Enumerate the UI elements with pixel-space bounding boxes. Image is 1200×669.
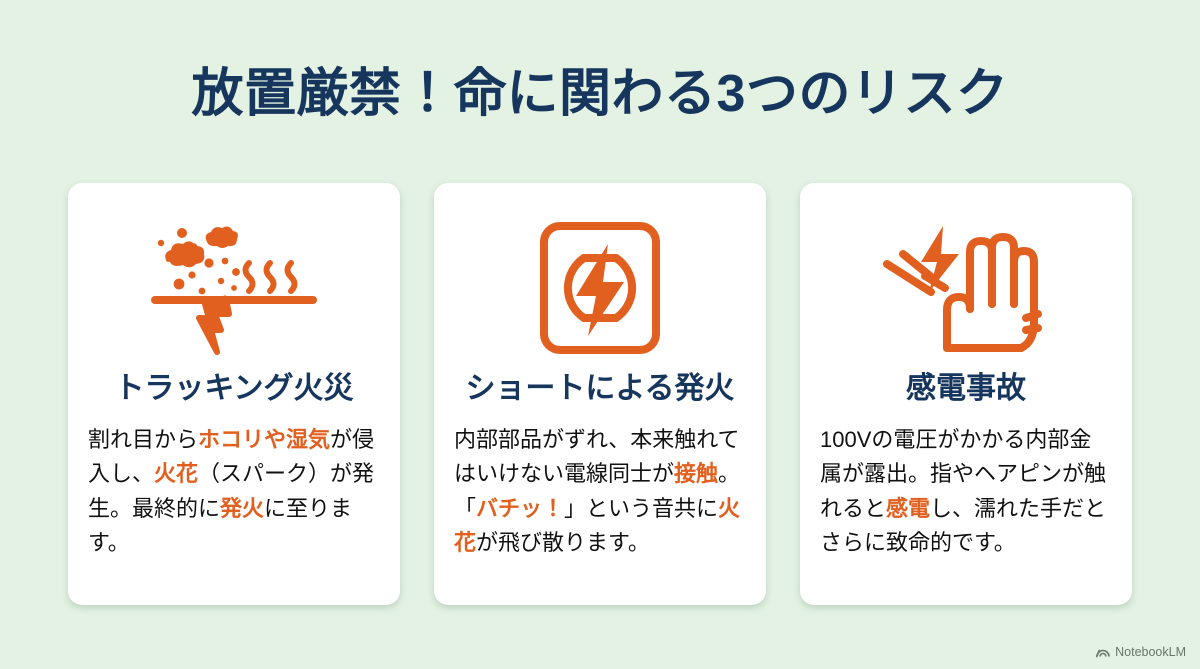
- notebooklm-watermark: NotebookLM: [1096, 645, 1186, 659]
- risk-card-electric-shock[interactable]: 感電事故 100Vの電圧がかかる内部金属が露出。指やヘアピンが触れると感電し、濡…: [800, 183, 1132, 605]
- risk-card-body: 100Vの電圧がかかる内部金属が露出。指やヘアピンが触れると感電し、濡れた手だと…: [820, 423, 1112, 560]
- highlighted-term: ホコリや湿気: [198, 427, 330, 452]
- highlighted-term: バチッ！: [476, 496, 564, 521]
- slide-root: 放置厳禁！命に関わる3つのリスク: [0, 0, 1200, 669]
- risk-card-body: 内部部品がずれ、本来触れてはいけない電線同士が接触。「バチッ！」という音共に火花…: [454, 423, 746, 560]
- risk-card-heading: ショートによる発火: [465, 371, 734, 407]
- risk-cards-row: トラッキング火災 割れ目からホコリや湿気が侵入し、火花（スパーク）が発生。最終的…: [68, 183, 1132, 605]
- outlet-lightning-icon: [530, 213, 670, 363]
- risk-card-tracking-fire[interactable]: トラッキング火災 割れ目からホコリや湿気が侵入し、火花（スパーク）が発生。最終的…: [68, 183, 400, 605]
- page-title: 放置厳禁！命に関わる3つのリスク: [0, 64, 1200, 125]
- highlighted-term: 火花: [154, 461, 198, 486]
- highlighted-term: 発火: [220, 496, 264, 521]
- body-text: 割れ目から: [88, 427, 198, 452]
- body-text: 」という音共に: [564, 496, 718, 521]
- body-text: が飛び散ります。: [476, 530, 650, 555]
- hand-electric-shock-icon: [881, 213, 1051, 363]
- notebooklm-label: NotebookLM: [1115, 645, 1186, 659]
- risk-card-heading: トラッキング火災: [114, 371, 353, 407]
- dust-spark-crack-icon: [139, 213, 329, 363]
- highlighted-term: 接触: [674, 461, 718, 486]
- highlighted-term: 感電: [886, 496, 930, 521]
- risk-card-short-circuit-fire[interactable]: ショートによる発火 内部部品がずれ、本来触れてはいけない電線同士が接触。「バチッ…: [434, 183, 766, 605]
- notebooklm-logo-icon: [1096, 646, 1110, 658]
- risk-card-body: 割れ目からホコリや湿気が侵入し、火花（スパーク）が発生。最終的に発火に至ります。: [88, 423, 380, 560]
- risk-card-heading: 感電事故: [906, 371, 1026, 407]
